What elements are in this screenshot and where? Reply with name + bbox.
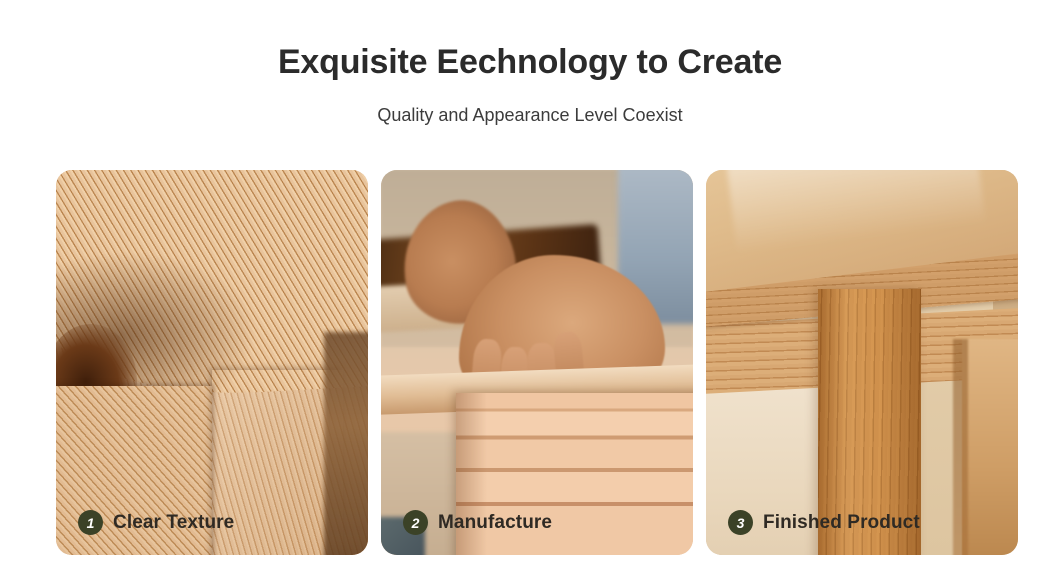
card-caption: 1 Clear Texture bbox=[78, 510, 234, 535]
step-number-badge: 2 bbox=[403, 510, 428, 535]
finished-furniture-gap bbox=[953, 339, 969, 555]
page-title: Exquisite Eechnology to Create bbox=[0, 44, 1060, 81]
process-step-cards: 1 Clear Texture 2 Manufacture bbox=[56, 170, 1018, 555]
card-caption: 2 Manufacture bbox=[403, 510, 552, 535]
texture-right-shadow-edge bbox=[324, 332, 368, 555]
wood-texture-photo bbox=[56, 170, 368, 555]
step-number-badge: 1 bbox=[78, 510, 103, 535]
finished-product-photo bbox=[706, 170, 1018, 555]
page-subtitle: Quality and Appearance Level Coexist bbox=[0, 81, 1060, 127]
step-label: Manufacture bbox=[438, 513, 552, 532]
step-label: Finished Product bbox=[763, 513, 920, 532]
step-label: Clear Texture bbox=[113, 513, 234, 532]
page-header: Exquisite Eechnology to Create Quality a… bbox=[0, 0, 1060, 127]
finished-second-furniture bbox=[962, 339, 1018, 555]
card-caption: 3 Finished Product bbox=[728, 510, 920, 535]
step-card-manufacture[interactable]: 2 Manufacture bbox=[381, 170, 693, 555]
manufacture-photo bbox=[381, 170, 693, 555]
step-number-badge: 3 bbox=[728, 510, 753, 535]
step-card-finished-product[interactable]: 3 Finished Product bbox=[706, 170, 1018, 555]
step-card-clear-texture[interactable]: 1 Clear Texture bbox=[56, 170, 368, 555]
